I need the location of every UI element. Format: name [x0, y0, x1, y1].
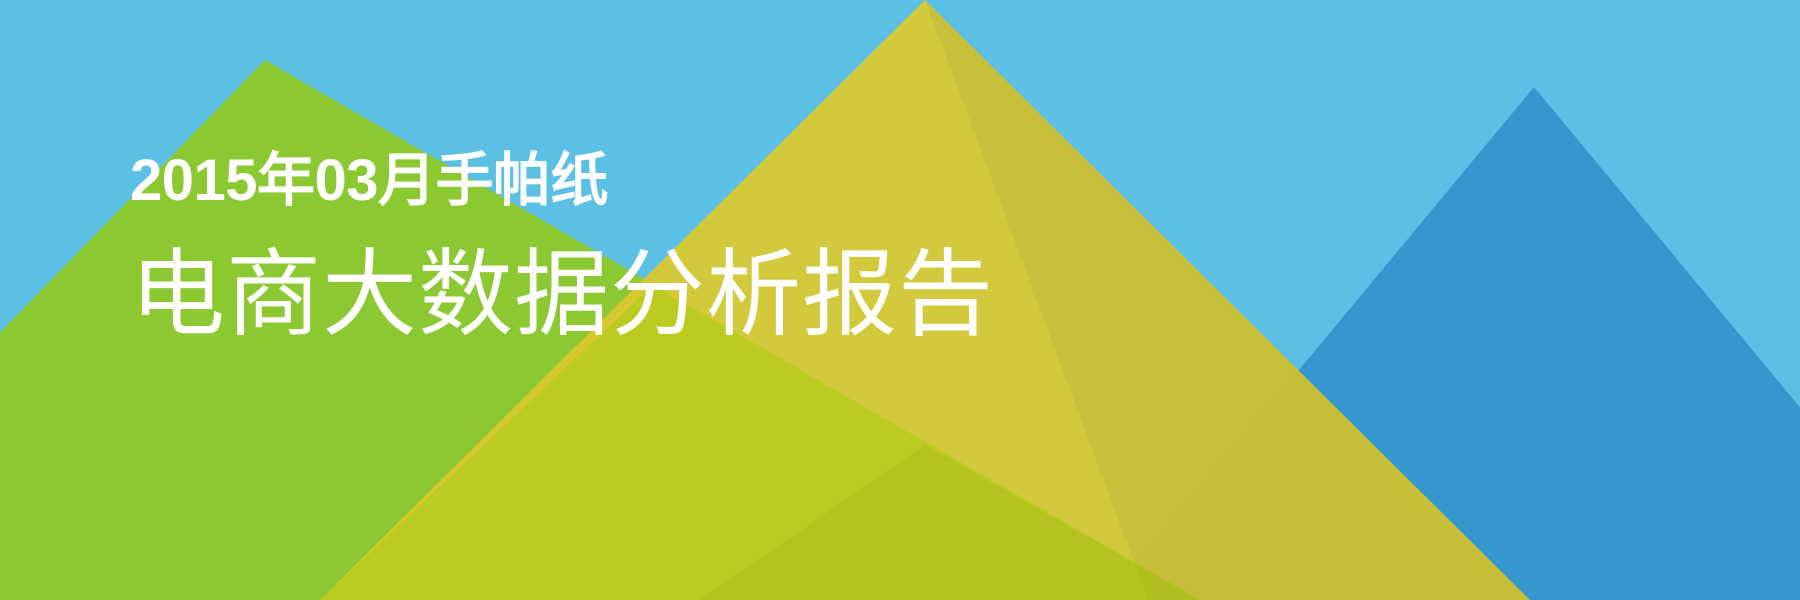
- background-mountain-graphic: [0, 0, 1800, 600]
- report-cover-banner: 2015年03月手帕纸 电商大数据分析报告: [0, 0, 1800, 600]
